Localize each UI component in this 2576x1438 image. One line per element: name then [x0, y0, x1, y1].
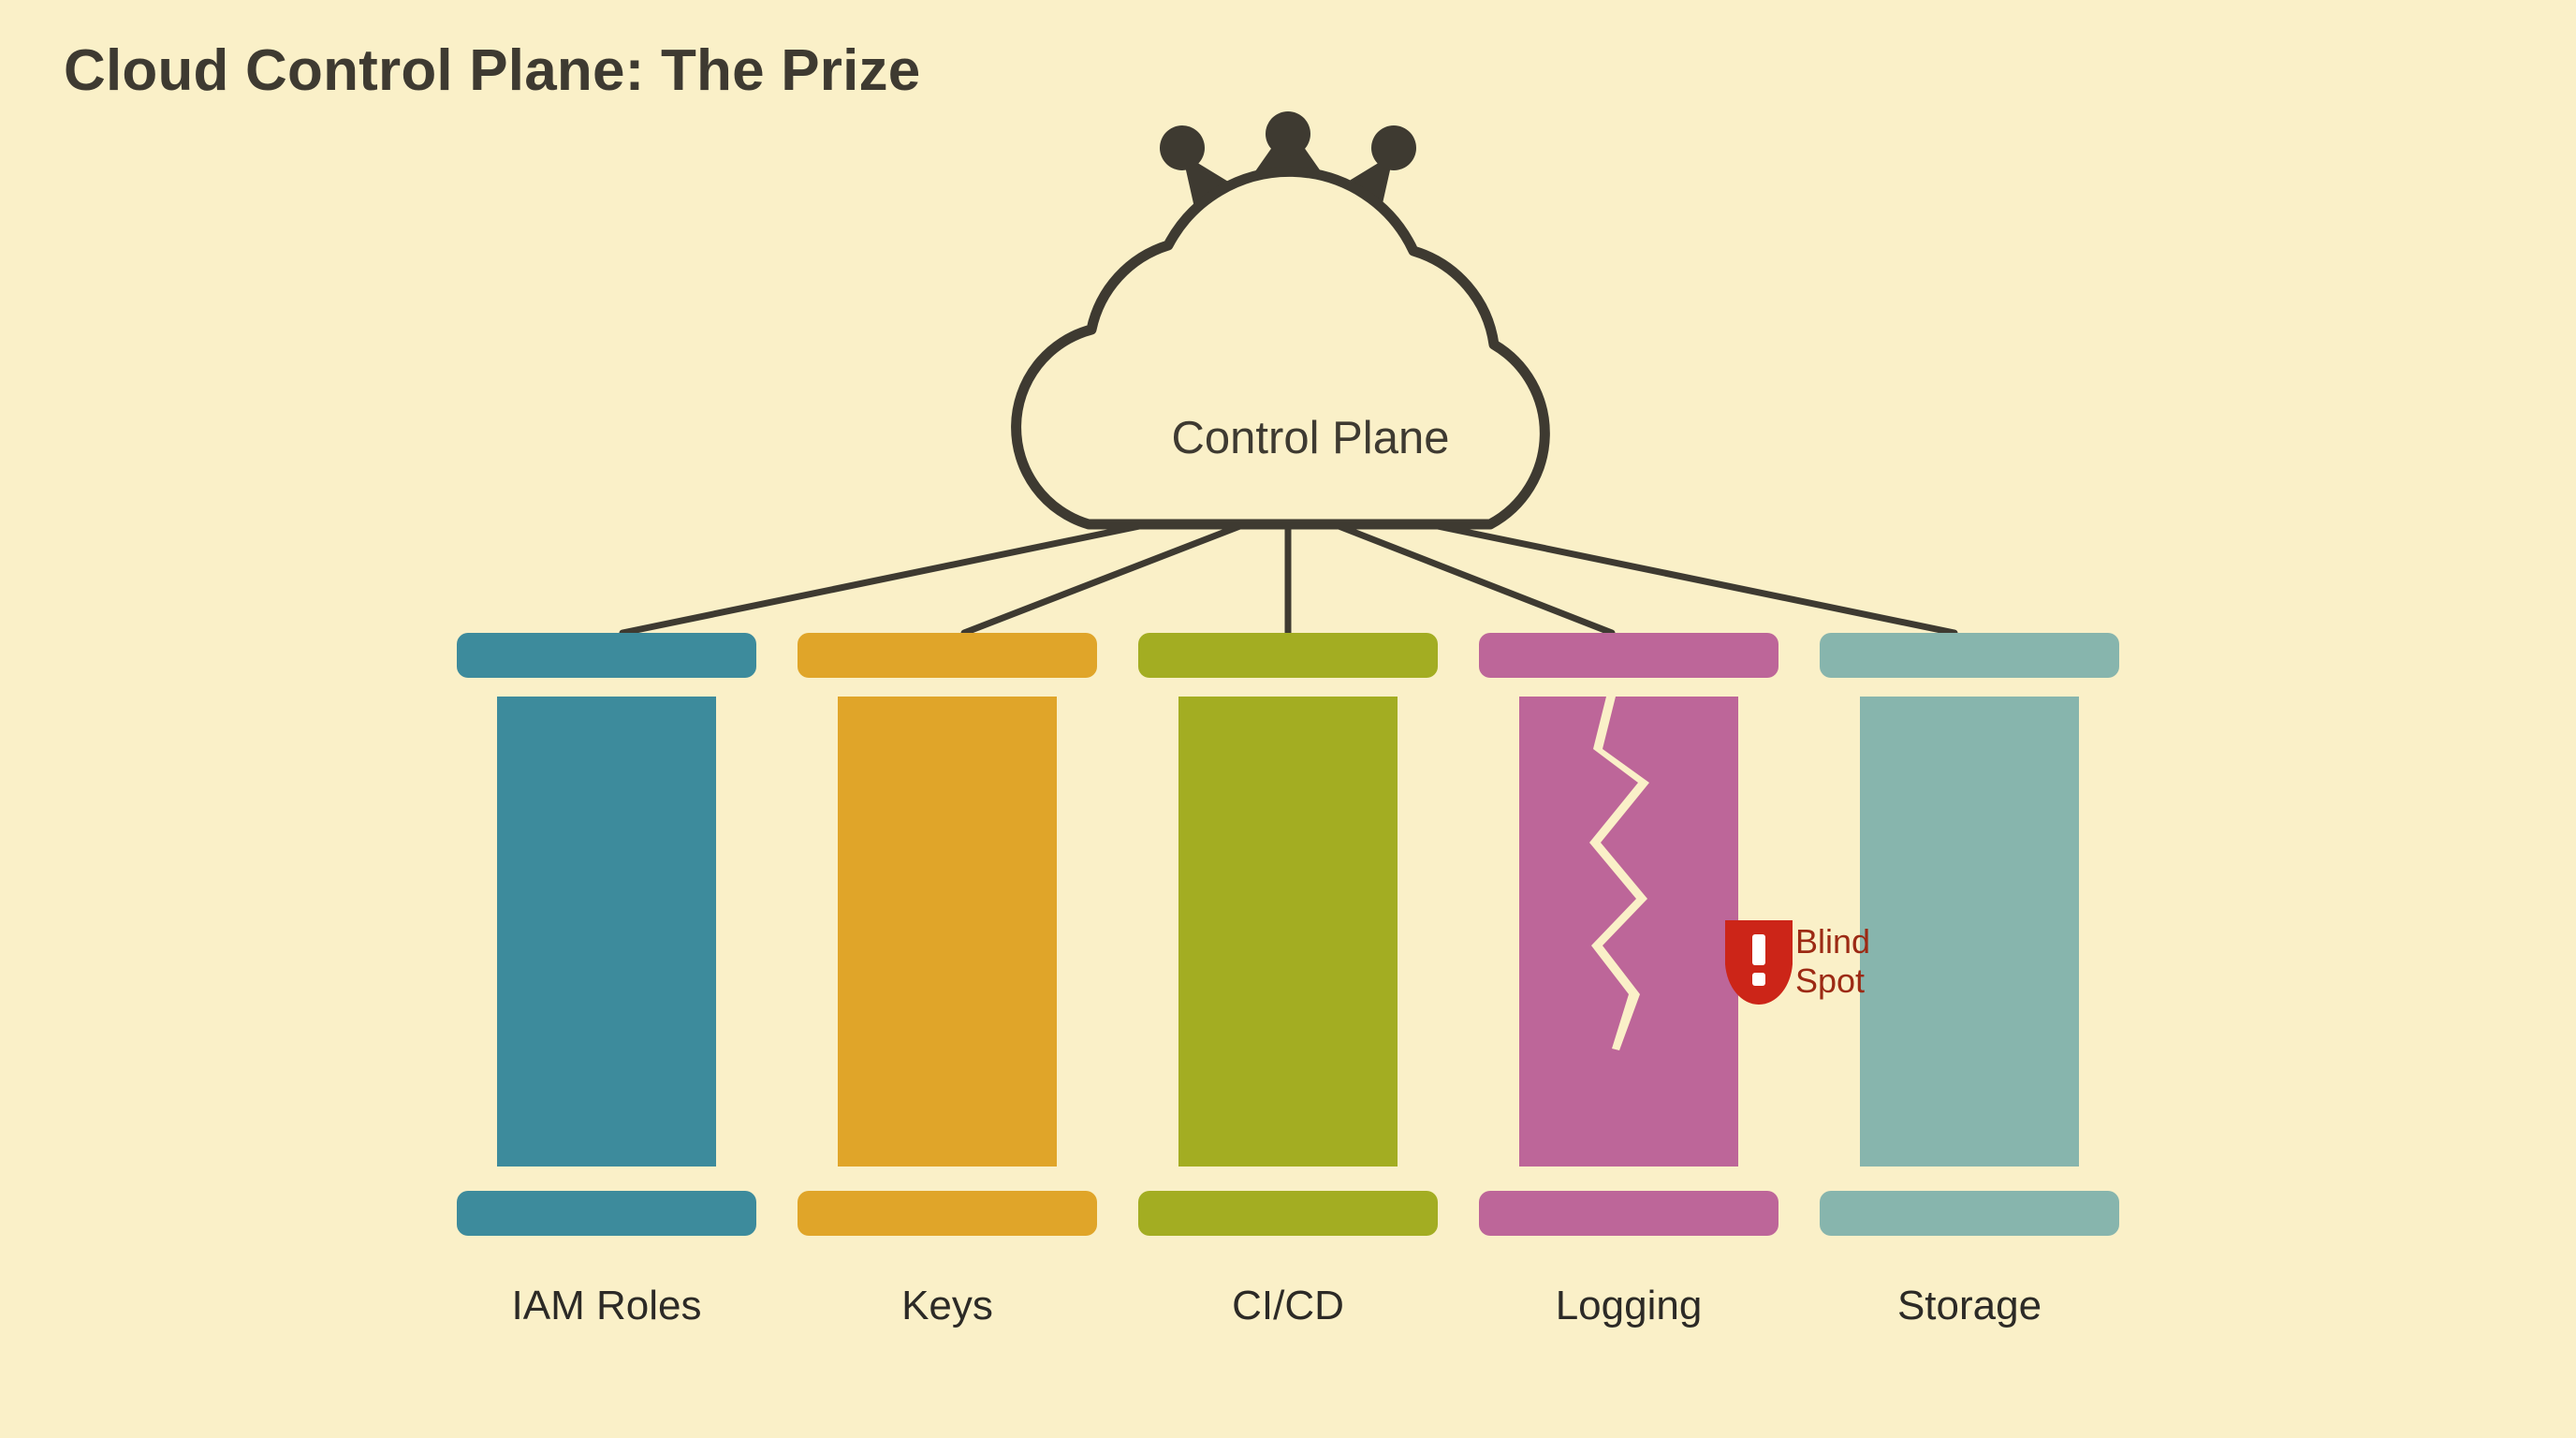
- pillar-base: [1138, 1191, 1438, 1236]
- pillar-iam-roles[interactable]: [457, 633, 756, 1236]
- connector-lines: [622, 513, 1954, 633]
- pillar-capital: [1138, 633, 1438, 678]
- pillar-base: [1820, 1191, 2119, 1236]
- pillar-capital: [798, 633, 1097, 678]
- pillar-shaft: [838, 697, 1057, 1167]
- diagram-scene: [0, 0, 2576, 1438]
- blind-spot-label-line1: Blind: [1795, 922, 1870, 961]
- pillar-label-storage: Storage: [1782, 1283, 2157, 1329]
- pillar-capital: [1820, 633, 2119, 678]
- pillar-base: [1479, 1191, 1778, 1236]
- pillar-keys[interactable]: [798, 633, 1097, 1236]
- pillar-label-keys: Keys: [760, 1283, 1134, 1329]
- pillar-label-cicd: CI/CD: [1101, 1283, 1475, 1329]
- connector-line-keys: [964, 522, 1250, 633]
- pillar-shaft: [1519, 697, 1738, 1167]
- connector-line-logging: [1329, 522, 1612, 633]
- cloud-icon: [1017, 171, 1545, 524]
- cloud-label: Control Plane: [1105, 412, 1516, 464]
- blind-spot-label: Blind Spot: [1795, 922, 1870, 1001]
- pillar-shaft: [497, 697, 716, 1167]
- pillar-cicd[interactable]: [1138, 633, 1438, 1236]
- pillar-shaft: [1860, 697, 2079, 1167]
- pillar-capital: [1479, 633, 1778, 678]
- shield-alert-icon[interactable]: [1725, 920, 1793, 1005]
- pillar-shaft: [1178, 697, 1398, 1167]
- pillar-label-iam-roles: IAM Roles: [419, 1283, 794, 1329]
- pillar-capital: [457, 633, 756, 678]
- diagram-canvas: Cloud Control Plane: The Prize: [0, 0, 2576, 1438]
- pillar-base: [798, 1191, 1097, 1236]
- pillar-label-logging: Logging: [1442, 1283, 1816, 1329]
- blind-spot-label-line2: Spot: [1795, 961, 1870, 1001]
- pillar-base: [457, 1191, 756, 1236]
